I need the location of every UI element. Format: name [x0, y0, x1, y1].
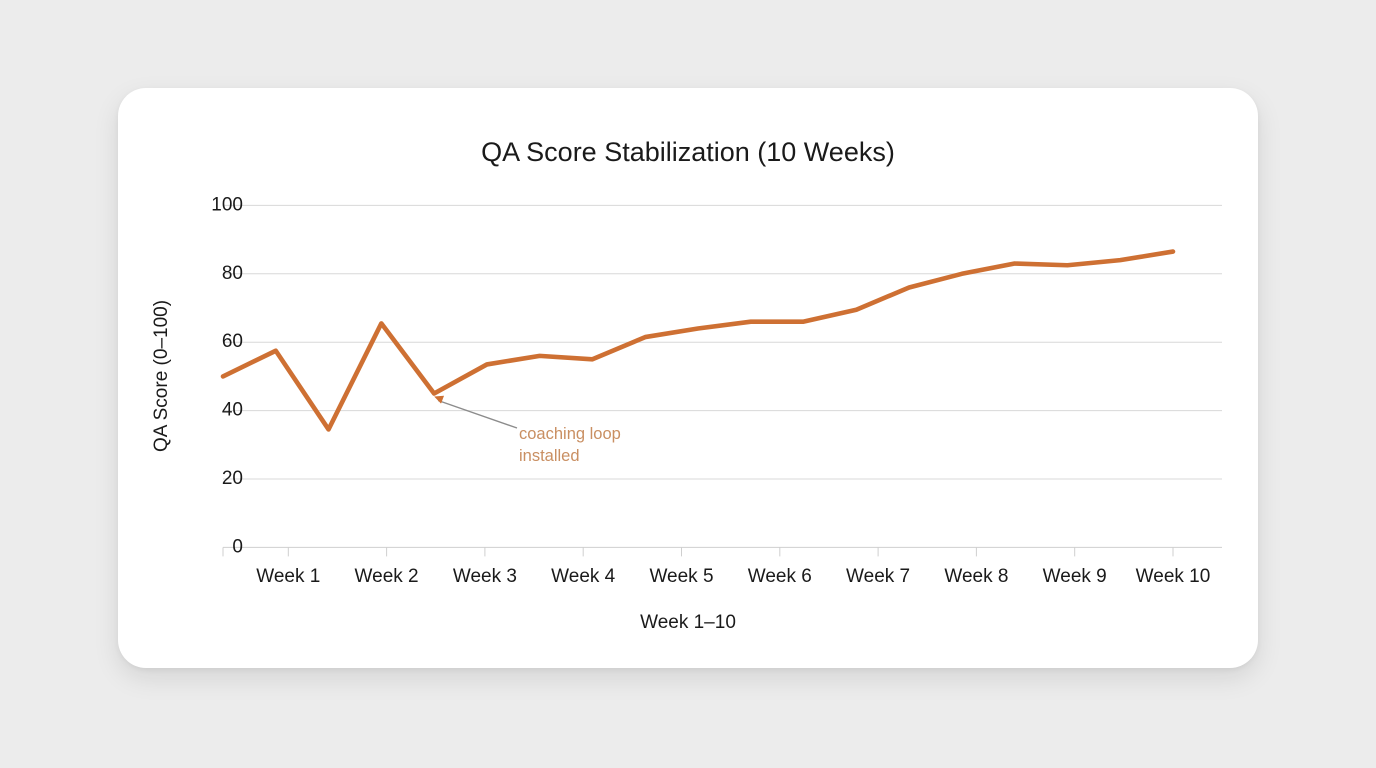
- x-tick-label-week-1: Week 1: [256, 566, 320, 587]
- series-line-qa-score: [223, 252, 1173, 430]
- annotation-coaching-loop: coaching loop installed: [434, 396, 621, 465]
- y-tick-label: 60: [222, 331, 243, 352]
- y-tick-label: 0: [232, 536, 243, 557]
- qa-score-line-chart: QA Score Stabilization (10 Weeks) 100 80…: [0, 0, 1376, 768]
- x-tick-label-week-8: Week 8: [944, 566, 1008, 587]
- y-tick-label: 40: [222, 400, 243, 421]
- y-tick-label: 20: [222, 468, 243, 489]
- x-axis-title: Week 1–10: [640, 612, 736, 633]
- screen: QA Score Stabilization (10 Weeks) 100 80…: [0, 0, 1376, 768]
- annotation-arrow-icon: [438, 401, 517, 429]
- x-tick-label-week-10: Week 10: [1136, 566, 1211, 587]
- x-tick-label-week-3: Week 3: [453, 566, 517, 587]
- x-tick-label-week-4: Week 4: [551, 566, 616, 587]
- y-tick-label: 80: [222, 263, 243, 284]
- gridlines: [223, 205, 1222, 547]
- y-tick-label: 100: [211, 194, 243, 215]
- x-axis-tick-labels: Week 1 Week 2 Week 3 Week 4 Week 5 Week …: [256, 566, 1210, 587]
- y-axis-title: QA Score (0–100): [151, 300, 172, 452]
- x-axis-tickmarks: [223, 547, 1173, 556]
- x-tick-label-week-6: Week 6: [748, 566, 812, 587]
- x-tick-label-week-2: Week 2: [355, 566, 419, 587]
- x-tick-label-week-9: Week 9: [1043, 566, 1107, 587]
- chart-title: QA Score Stabilization (10 Weeks): [481, 137, 895, 167]
- x-tick-label-week-7: Week 7: [846, 566, 910, 587]
- annotation-text-line-2: installed: [519, 447, 580, 465]
- annotation-text-line-1: coaching loop: [519, 425, 621, 443]
- x-tick-label-week-5: Week 5: [649, 566, 713, 587]
